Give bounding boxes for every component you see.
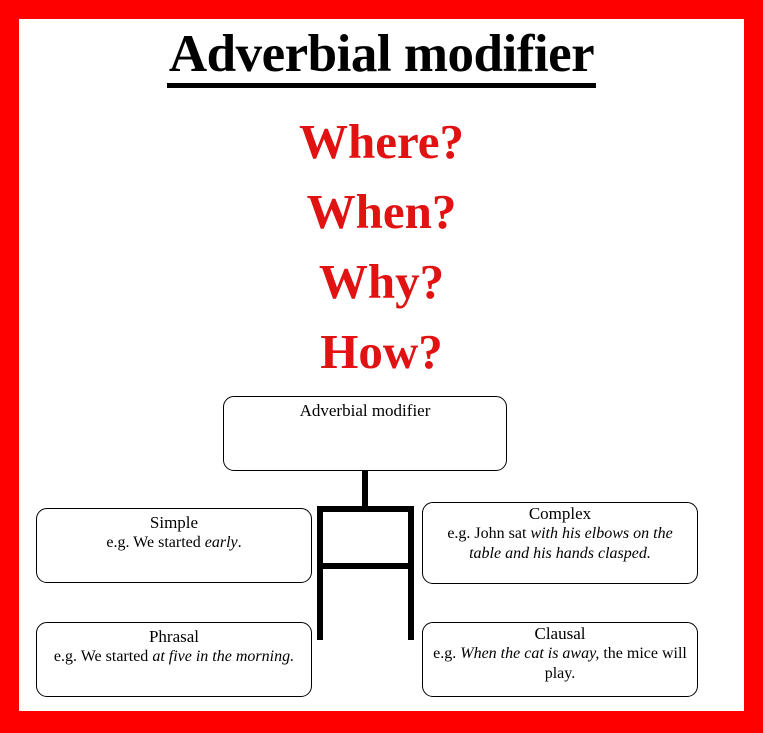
node-simple-example-suffix: .: [238, 534, 242, 551]
node-complex: Complex e.g. John sat with his elbows on…: [422, 502, 698, 584]
node-complex-example-prefix: e.g. John sat: [447, 525, 530, 542]
node-simple-example-italic: early: [205, 534, 238, 551]
node-clausal-content: Clausal e.g. When the cat is away, the m…: [423, 623, 697, 683]
node-complex-example: e.g. John sat with his elbows on the tab…: [430, 524, 690, 563]
slide-canvas: Adverbial modifier Where? When? Why? How…: [19, 19, 744, 711]
node-phrasal: Phrasal e.g. We started at five in the m…: [36, 622, 312, 697]
node-clausal: Clausal e.g. When the cat is away, the m…: [422, 622, 698, 697]
node-clausal-example-italic: When the cat is away,: [460, 645, 599, 662]
node-phrasal-example-prefix: e.g. We started: [54, 648, 152, 665]
node-complex-content: Complex e.g. John sat with his elbows on…: [423, 503, 697, 563]
node-root-heading: Adverbial modifier: [231, 400, 499, 421]
node-phrasal-content: Phrasal e.g. We started at five in the m…: [37, 623, 311, 667]
connector-bar-upper: [317, 506, 414, 512]
connector-vertical-right: [408, 506, 414, 640]
node-clausal-example-prefix: e.g.: [433, 645, 460, 662]
node-phrasal-example-italic: at five in the morning.: [152, 648, 294, 665]
node-complex-heading: Complex: [430, 503, 690, 524]
node-adverbial-modifier: Adverbial modifier: [223, 396, 507, 471]
adverbial-modifier-diagram: Adverbial modifier Simple e.g. We starte…: [19, 19, 744, 711]
node-simple-content: Simple e.g. We started early.: [37, 509, 311, 553]
node-simple: Simple e.g. We started early.: [36, 508, 312, 583]
connector-bar-lower: [317, 563, 414, 569]
slide-frame: Adverbial modifier Where? When? Why? How…: [0, 0, 763, 733]
node-phrasal-example: e.g. We started at five in the morning.: [44, 647, 304, 667]
node-phrasal-heading: Phrasal: [44, 626, 304, 647]
node-simple-heading: Simple: [44, 512, 304, 533]
node-simple-example: e.g. We started early.: [44, 533, 304, 553]
node-simple-example-prefix: e.g. We started: [106, 534, 204, 551]
node-clausal-example: e.g. When the cat is away, the mice will…: [430, 644, 690, 683]
node-clausal-heading: Clausal: [430, 623, 690, 644]
node-root-content: Adverbial modifier: [224, 397, 506, 421]
connector-vertical-left: [317, 506, 323, 640]
